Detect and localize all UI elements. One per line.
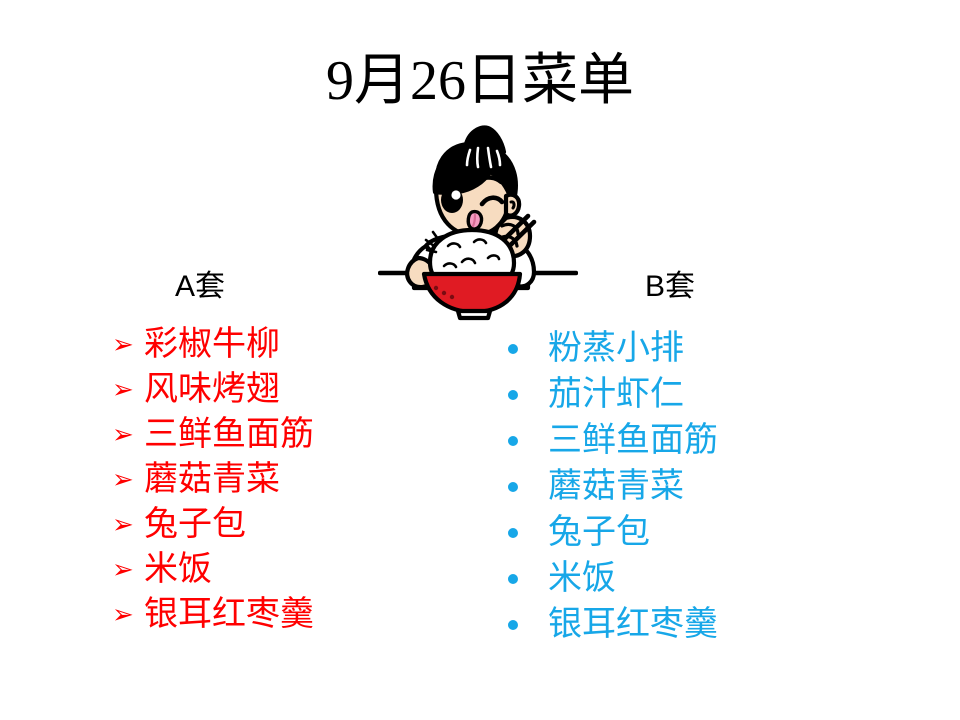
list-item[interactable]: ➢ 蘑菇青菜 (112, 457, 314, 502)
dot-bullet-icon (508, 528, 548, 538)
menu-item-label: 米饭 (144, 553, 212, 587)
dot-bullet-icon (508, 574, 548, 584)
column-b-heading-letter: B (645, 270, 665, 303)
page-title: 9月26日菜单 (0, 52, 960, 111)
menu-item-label: 银耳红枣羹 (144, 598, 314, 632)
column-b-heading-cjk: 套 (665, 270, 695, 303)
list-item[interactable]: 蘑菇青菜 (508, 464, 718, 510)
menu-item-label: 茄汁虾仁 (548, 378, 684, 412)
menu-item-label: 兔子包 (548, 516, 650, 550)
menu-item-label: 三鲜鱼面筋 (548, 424, 718, 458)
dot-bullet-icon (508, 620, 548, 630)
arrow-bullet-icon: ➢ (112, 557, 144, 583)
column-a-heading: A套 (0, 272, 400, 302)
menu-item-label: 风味烤翅 (144, 373, 280, 407)
arrow-bullet-icon: ➢ (112, 467, 144, 493)
menu-item-label: 蘑菇青菜 (548, 470, 684, 504)
menu-item-label: 三鲜鱼面筋 (144, 418, 314, 452)
arrow-bullet-icon: ➢ (112, 602, 144, 628)
arrow-bullet-icon: ➢ (112, 332, 144, 358)
menu-slide: 9月26日菜单 (0, 0, 960, 720)
list-item[interactable]: 茄汁虾仁 (508, 372, 718, 418)
list-item[interactable]: 粉蒸小排 (508, 326, 718, 372)
menu-item-label: 银耳红枣羹 (548, 608, 718, 642)
list-item[interactable]: 兔子包 (508, 510, 718, 556)
menu-item-label: 粉蒸小排 (548, 332, 684, 366)
arrow-bullet-icon: ➢ (112, 422, 144, 448)
dot-bullet-icon (508, 390, 548, 400)
list-item[interactable]: ➢ 三鲜鱼面筋 (112, 412, 314, 457)
menu-item-label: 米饭 (548, 562, 616, 596)
menu-list-set-a: ➢ 彩椒牛柳 ➢ 风味烤翅 ➢ 三鲜鱼面筋 ➢ 蘑菇青菜 ➢ 兔子包 ➢ 米饭 … (112, 322, 314, 637)
menu-item-label: 彩椒牛柳 (144, 328, 280, 362)
column-b-heading: B套 (540, 272, 800, 302)
dot-bullet-icon (508, 436, 548, 446)
dot-bullet-icon (508, 482, 548, 492)
menu-item-label: 兔子包 (144, 508, 246, 542)
list-item[interactable]: ➢ 米饭 (112, 547, 314, 592)
dot-bullet-icon (508, 344, 548, 354)
list-item[interactable]: ➢ 风味烤翅 (112, 367, 314, 412)
list-item[interactable]: ➢ 兔子包 (112, 502, 314, 547)
list-item[interactable]: 米饭 (508, 556, 718, 602)
arrow-bullet-icon: ➢ (112, 377, 144, 403)
menu-item-label: 蘑菇青菜 (144, 463, 280, 497)
list-item[interactable]: 银耳红枣羹 (508, 602, 718, 648)
menu-list-set-b: 粉蒸小排 茄汁虾仁 三鲜鱼面筋 蘑菇青菜 兔子包 米饭 银耳红枣羹 (508, 326, 718, 648)
list-item[interactable]: 三鲜鱼面筋 (508, 418, 718, 464)
arrow-bullet-icon: ➢ (112, 512, 144, 538)
column-a-heading-cjk: 套 (195, 270, 225, 303)
column-a-heading-letter: A (175, 270, 195, 303)
list-item[interactable]: ➢ 彩椒牛柳 (112, 322, 314, 367)
list-item[interactable]: ➢ 银耳红枣羹 (112, 592, 314, 637)
